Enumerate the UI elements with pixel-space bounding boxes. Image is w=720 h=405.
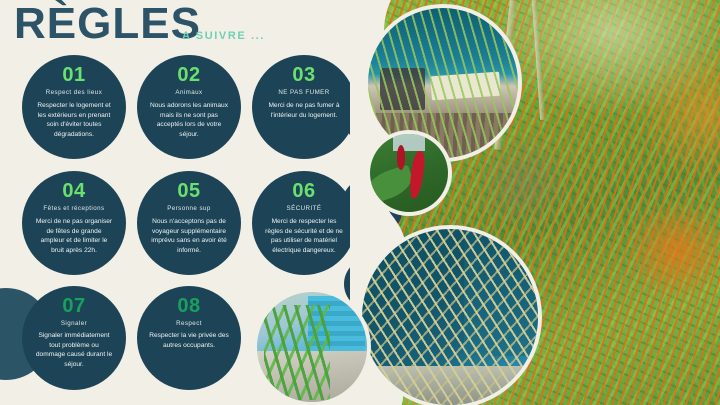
- poster-canvas: RÈGLES A SUIVRE ... 01 Respect des lieux…: [0, 0, 720, 405]
- rule-circle-08[interactable]: 08 Respect Respecter la vie privée des a…: [137, 286, 241, 390]
- rule-body: Merci de ne pas fumer à l'intérieur du l…: [264, 101, 344, 120]
- page-subtitle: A SUIVRE ...: [182, 30, 265, 42]
- rule-circle-07[interactable]: 07 Signaler Signaler immédiatement tout …: [22, 286, 126, 390]
- rule-number: 08: [177, 296, 200, 317]
- rule-body: Nous adorons les animaux mais ils ne son…: [149, 101, 229, 139]
- rule-subtitle: NE PAS FUMER: [278, 89, 329, 96]
- rule-subtitle: Fêtes et réceptions: [43, 205, 104, 212]
- rule-subtitle: Signaler: [61, 320, 87, 327]
- rule-circle-02[interactable]: 02 Animaux Nous adorons les animaux mais…: [137, 55, 241, 159]
- rule-body: Nous n'acceptons pas de voyageur supplém…: [149, 217, 229, 255]
- rule-number: 02: [177, 65, 200, 86]
- rule-number: 06: [292, 181, 315, 202]
- rule-subtitle: Respect: [176, 320, 202, 327]
- rule-number: 05: [177, 181, 200, 202]
- palm-photo: [358, 225, 542, 405]
- flower-photo: [366, 130, 452, 216]
- yard-photo: [253, 288, 371, 405]
- rule-subtitle: Respect des lieux: [46, 89, 103, 96]
- palm-frond-decor: [358, 225, 542, 405]
- rule-circle-01[interactable]: 01 Respect des lieux Respecter le logeme…: [22, 55, 126, 159]
- rule-body: Merci de ne pas organiser de fêtes de gr…: [34, 217, 114, 255]
- rule-subtitle: Personne sup: [167, 205, 211, 212]
- rule-number: 01: [62, 65, 85, 86]
- flower-bloom-decor: [407, 151, 426, 201]
- rule-subtitle: Animaux: [175, 89, 202, 96]
- rule-circle-04[interactable]: 04 Fêtes et réceptions Merci de ne pas o…: [22, 171, 126, 275]
- page-title: RÈGLES: [14, 2, 201, 46]
- rule-body: Respecter la vie privée des autres occup…: [149, 331, 229, 350]
- rule-subtitle: SÉCURITÉ: [287, 205, 322, 212]
- rule-body: Signaler immédiatement tout problème ou …: [34, 331, 114, 369]
- rule-number: 04: [62, 181, 85, 202]
- flower-bud-decor: [397, 145, 406, 170]
- yard-plant-decor: [264, 305, 330, 400]
- rule-circle-05[interactable]: 05 Personne sup Nous n'acceptons pas de …: [137, 171, 241, 275]
- rule-number: 03: [292, 65, 315, 86]
- rule-body: Merci de respecter les règles de sécurit…: [264, 217, 344, 255]
- flower-leaf-decor: [366, 165, 417, 205]
- rule-number: 07: [62, 296, 85, 317]
- rule-body: Respecter le logement et les extérieurs …: [34, 101, 114, 139]
- rule-circle-06[interactable]: 06 SÉCURITÉ Merci de respecter les règle…: [252, 171, 356, 275]
